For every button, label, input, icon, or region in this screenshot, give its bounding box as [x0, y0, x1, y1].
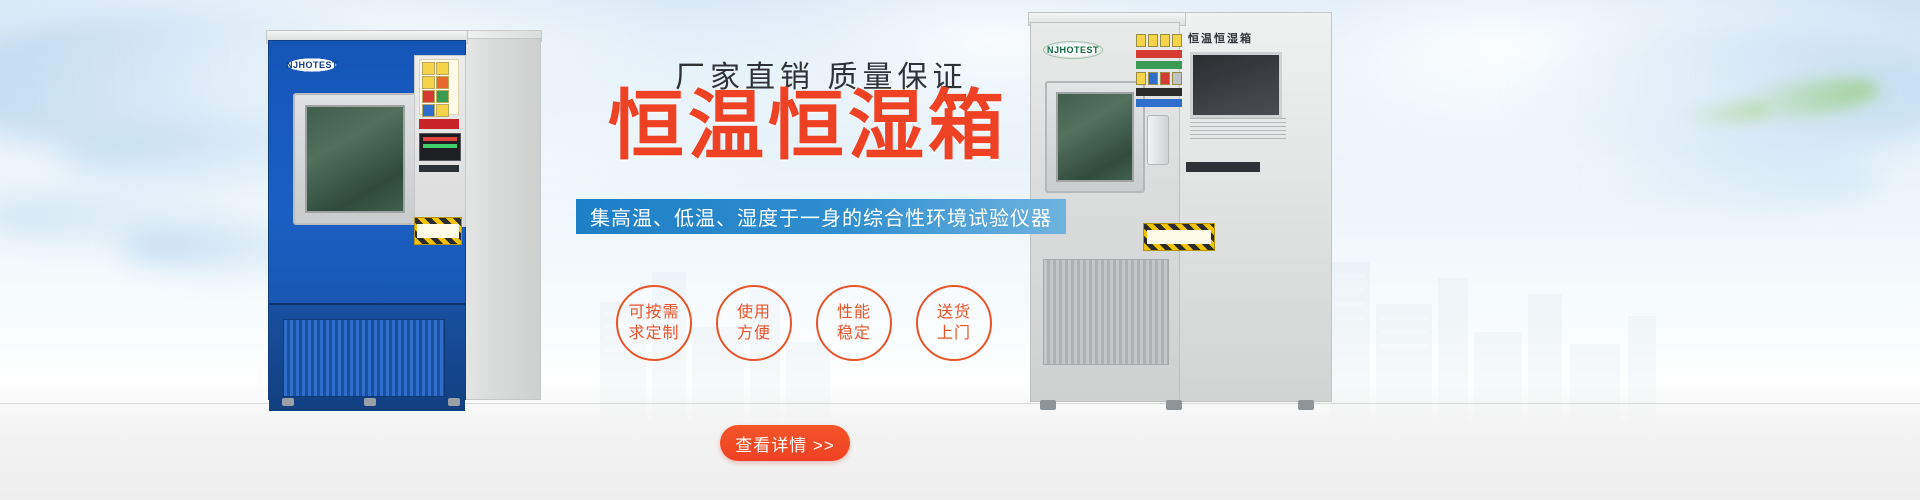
subtitle-bar: 集高温、低温、湿度于一身的综合性环境试验仪器 [576, 199, 1066, 234]
condenser-vent-grille [283, 319, 445, 397]
chamber-model-title: 恒温恒湿箱 [1188, 32, 1298, 46]
feature-badge-delivery[interactable]: 送货 上门 [916, 285, 992, 361]
chamber-viewing-window [305, 105, 405, 213]
badge-line-1: 性能 [837, 302, 871, 323]
door-handle [1147, 115, 1169, 165]
spec-plate-text [1190, 118, 1286, 140]
chamber-door [293, 93, 417, 225]
feature-badge-easy-use[interactable]: 使用 方便 [716, 285, 792, 361]
page-title: 恒温恒湿箱 [608, 86, 1008, 168]
controller-display [419, 133, 461, 161]
badge-line-2: 方便 [737, 323, 771, 344]
cloud-wisp [1580, 150, 1880, 210]
chamber-side-panel [458, 38, 541, 400]
badge-line-2: 稳定 [837, 323, 871, 344]
subtitle-text: 集高温、低温、湿度于一身的综合性环境试验仪器 [576, 202, 1052, 231]
hazard-stripe-label [414, 217, 462, 245]
brand-logo: NJHOTEST [283, 57, 341, 73]
feature-badge-list: 可按需 求定制 使用 方便 性能 稳定 送货 上门 [616, 285, 992, 361]
promo-banner: NJHOTEST [0, 0, 1920, 500]
badge-line-1: 可按需 [628, 302, 679, 323]
warning-sticker-grid [419, 59, 459, 115]
badge-line-2: 上门 [937, 323, 971, 344]
left-test-chamber-image: NJHOTEST [268, 30, 538, 398]
warning-sticker-grid [1136, 34, 1182, 120]
feature-badge-custom[interactable]: 可按需 求定制 [616, 285, 692, 361]
panel-caption-plate [419, 165, 459, 172]
chamber-base [269, 303, 465, 411]
chamber-feet [278, 398, 468, 406]
feature-badge-stable[interactable]: 性能 稳定 [816, 285, 892, 361]
manufacturer-plate [1186, 162, 1260, 172]
badge-line-2: 求定制 [628, 323, 679, 344]
badge-line-1: 使用 [737, 302, 771, 323]
view-details-button[interactable]: 查看详情 >> [720, 425, 850, 461]
chamber-body: NJHOTEST [268, 40, 466, 400]
hazard-stripe-label [1143, 223, 1215, 251]
controller-touchscreen [1190, 52, 1282, 118]
badge-line-1: 送货 [937, 302, 971, 323]
banner-copy-block: 厂家直销 质量保证 恒温恒湿箱 集高温、低温、湿度于一身的综合性环境试验仪器 可… [560, 0, 1120, 500]
panel-red-band [419, 119, 459, 129]
